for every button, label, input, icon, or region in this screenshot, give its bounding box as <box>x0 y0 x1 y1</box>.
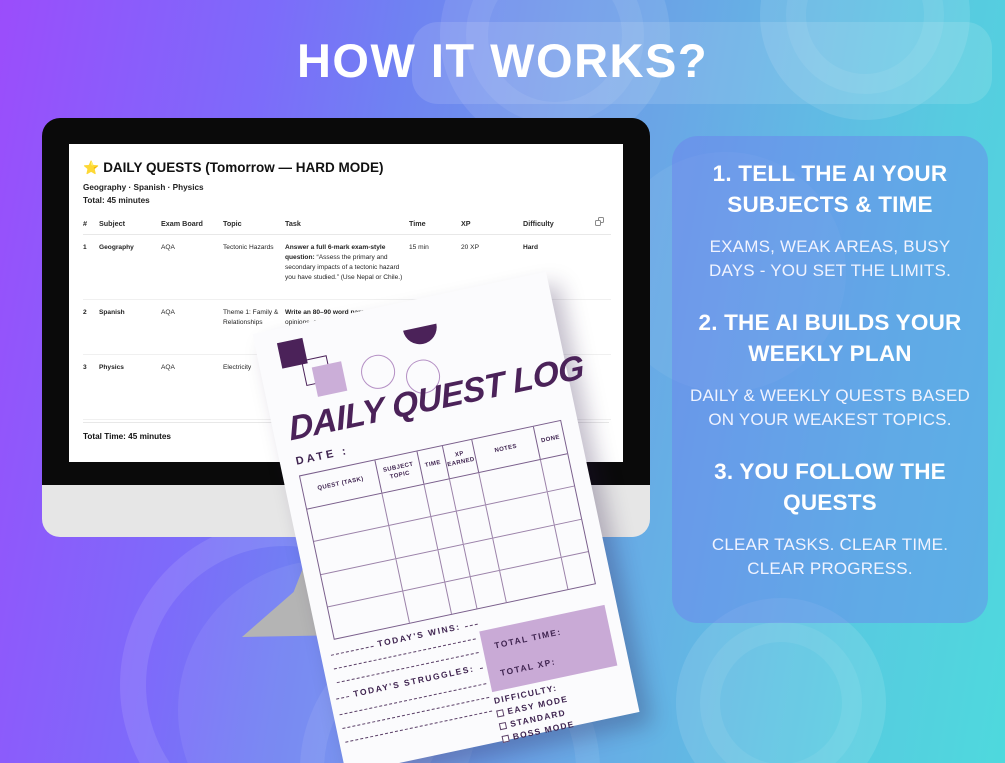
paper-date-label: DATE : <box>295 445 350 468</box>
document-total-time: Total: 45 minutes <box>83 196 609 205</box>
page-title: HOW IT WORKS? <box>0 26 1005 96</box>
cell-num: 3 <box>83 355 99 420</box>
paper-col-done: DONE <box>534 421 567 459</box>
cell-subject: Physics <box>99 355 161 420</box>
col-header-num: # <box>83 213 99 235</box>
cell-board: AQA <box>161 235 223 300</box>
cell-board: AQA <box>161 355 223 420</box>
col-header-xp: XP <box>461 213 523 235</box>
struggles-rule <box>345 711 492 743</box>
col-header-task: Task <box>285 213 409 235</box>
step-2-heading: 2. THE AI BUILDS YOUR WEEKLY PLAN <box>688 307 972 369</box>
step-3-heading: 3. YOU FOLLOW THE QUESTS <box>688 456 972 518</box>
document-title: ⭐ DAILY QUESTS (Tomorrow — HARD MODE) <box>83 160 609 175</box>
step-1: 1. TELL THE AI YOUR SUBJECTS & TIME EXAM… <box>688 158 972 283</box>
step-1-subtext: EXAMS, WEAK AREAS, BUSY DAYS - YOU SET T… <box>688 235 972 283</box>
step-3-subtext: CLEAR TASKS. CLEAR TIME. CLEAR PROGRESS. <box>688 533 972 581</box>
cell-subject: Spanish <box>99 300 161 355</box>
checkbox-icon[interactable] <box>499 721 507 729</box>
decor-circle-outline-icon <box>358 352 398 392</box>
steps-card: 1. TELL THE AI YOUR SUBJECTS & TIME EXAM… <box>672 136 988 623</box>
step-2-subtext: DAILY & WEEKLY QUESTS BASED ON YOUR WEAK… <box>688 384 972 432</box>
cell-topic: Tectonic Hazards <box>223 235 285 300</box>
decor-half-circle-icon <box>403 324 440 348</box>
copy-column-header <box>595 213 611 235</box>
cell-spacer <box>595 300 611 355</box>
cell-spacer <box>595 235 611 300</box>
checkbox-icon[interactable] <box>496 709 504 717</box>
table-header-row: # Subject Exam Board Topic Task Time XP … <box>83 213 611 235</box>
step-1-heading: 1. TELL THE AI YOUR SUBJECTS & TIME <box>688 158 972 220</box>
decor-square-light-icon <box>312 361 348 397</box>
document-title-text: DAILY QUESTS (Tomorrow — HARD MODE) <box>103 160 383 175</box>
star-icon: ⭐ <box>83 161 99 174</box>
checkbox-icon[interactable] <box>501 734 509 742</box>
infographic-canvas: HOW IT WORKS? ⭐ DAILY QUESTS (Tomorrow —… <box>0 0 1005 763</box>
cell-time: 15 min <box>409 235 461 300</box>
difficulty-section: DIFFICULTY: EASY MODE STANDARD BOSS MODE <box>493 681 575 744</box>
cell-subject: Geography <box>99 235 161 300</box>
col-header-time: Time <box>409 213 461 235</box>
struggles-rule <box>342 697 489 729</box>
cell-spacer <box>595 355 611 420</box>
col-header-topic: Topic <box>223 213 285 235</box>
col-header-board: Exam Board <box>161 213 223 235</box>
cell-num: 2 <box>83 300 99 355</box>
cell-num: 1 <box>83 235 99 300</box>
step-2: 2. THE AI BUILDS YOUR WEEKLY PLAN DAILY … <box>688 307 972 432</box>
cell-task: Answer a full 6-mark exam-style question… <box>285 235 409 300</box>
bg-ring-5 <box>700 622 862 763</box>
col-header-difficulty: Difficulty <box>523 213 595 235</box>
col-header-subject: Subject <box>99 213 161 235</box>
copy-icon[interactable] <box>595 217 604 226</box>
step-3: 3. YOU FOLLOW THE QUESTS CLEAR TASKS. CL… <box>688 456 972 581</box>
cell-board: AQA <box>161 300 223 355</box>
struggles-label: TODAY'S STRUGGLES: <box>349 663 480 700</box>
document-subjects: Geography · Spanish · Physics <box>83 183 609 192</box>
